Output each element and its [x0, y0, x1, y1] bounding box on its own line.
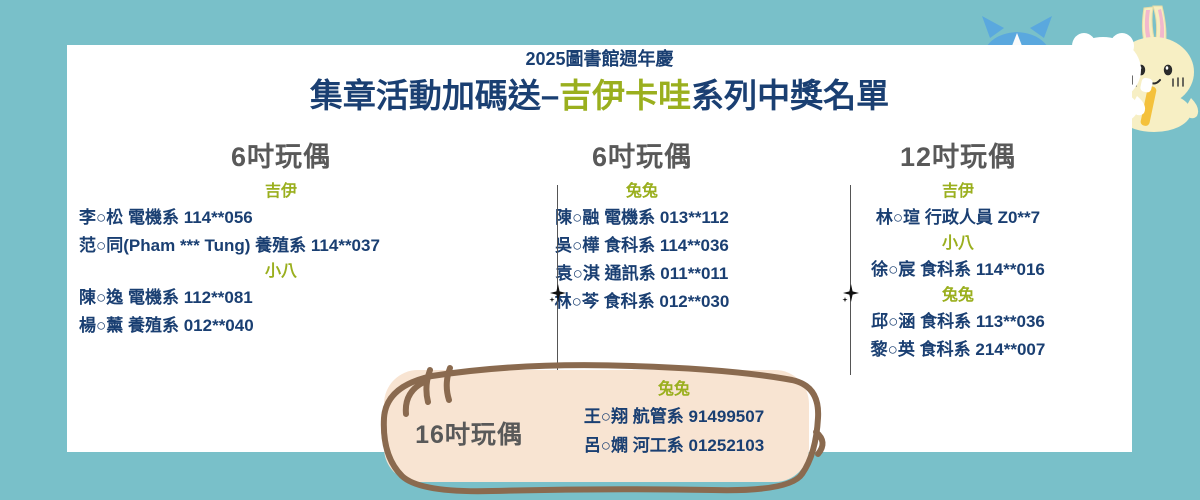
column-size-label: 6吋玩偶 [71, 140, 491, 174]
bubble-size-label: 16吋玩偶 [394, 420, 544, 450]
winner-column-1: 6吋玩偶 吉伊 李○松 電機系 114**056 范○同(Pham *** Tu… [71, 140, 491, 340]
winner-entry: 楊○薰 養殖系 012**040 [71, 312, 491, 340]
column-size-label: 6吋玩偶 [497, 140, 787, 174]
winner-entry: 黎○英 食科系 214**007 [793, 336, 1123, 364]
bubble-winner-list: 兔兔 王○翔 航管系 91499507 呂○嫻 河工系 01252103 [534, 378, 814, 460]
winner-entry: 林○芩 食科系 012**030 [497, 288, 787, 316]
page-title: 集章活動加碼送–吉伊卡哇系列中獎名單 [67, 76, 1132, 116]
title-part1: 集章活動加碼送– [310, 77, 559, 114]
winner-entry: 陳○逸 電機系 112**081 [71, 284, 491, 312]
title-part2: 系列中獎名單 [691, 77, 889, 114]
character-label: 吉伊 [793, 180, 1123, 204]
title-highlight: 吉伊卡哇 [559, 77, 691, 114]
character-label: 小八 [793, 232, 1123, 256]
winner-entry: 范○同(Pham *** Tung) 養殖系 114**037 [71, 232, 491, 260]
column-divider-2 [850, 185, 851, 375]
character-label: 兔兔 [534, 378, 814, 402]
winner-column-2: 6吋玩偶 兔兔 陳○融 電機系 013**112 吳○樺 食科系 114**03… [497, 140, 787, 316]
character-label: 兔兔 [497, 180, 787, 204]
winner-column-3: 12吋玩偶 吉伊 林○瑄 行政人員 Z0**7 小八 徐○宸 食科系 114**… [793, 140, 1123, 364]
character-label: 吉伊 [71, 180, 491, 204]
character-label: 兔兔 [793, 284, 1123, 308]
winner-entry: 王○翔 航管系 91499507 [534, 402, 814, 431]
winner-entry: 邱○涵 食科系 113**036 [793, 308, 1123, 336]
column-size-label: 12吋玩偶 [793, 140, 1123, 174]
winner-entry: 吳○樺 食科系 114**036 [497, 232, 787, 260]
winner-entry: 袁○淇 通訊系 011**011 [497, 260, 787, 288]
column-divider-1 [557, 185, 558, 375]
winner-entry: 徐○宸 食科系 114**016 [793, 256, 1123, 284]
event-eyebrow-title: 2025圖書館週年慶 [67, 48, 1132, 70]
winner-entry: 陳○融 電機系 013**112 [497, 204, 787, 232]
winner-entry: 林○瑄 行政人員 Z0**7 [793, 204, 1123, 232]
winner-entry: 呂○嫻 河工系 01252103 [534, 431, 814, 460]
sixteen-inch-bubble: 16吋玩偶 兔兔 王○翔 航管系 91499507 呂○嫻 河工系 012521… [372, 358, 827, 498]
winner-entry: 李○松 電機系 114**056 [71, 204, 491, 232]
character-label: 小八 [71, 260, 491, 284]
toothbrush-yellow [1140, 77, 1157, 126]
